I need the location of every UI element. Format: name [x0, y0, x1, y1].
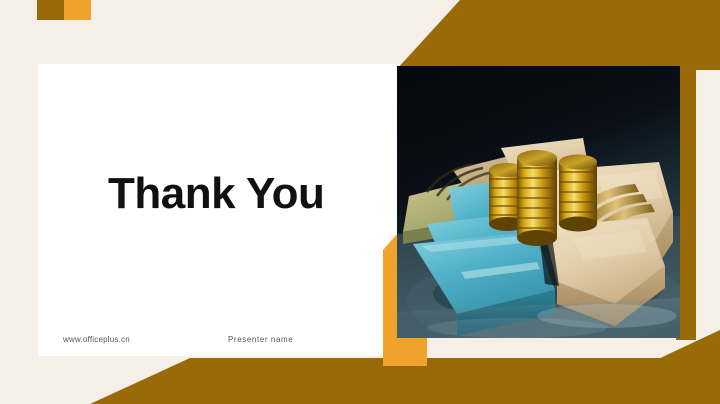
top-right-diagonal-wedge	[396, 0, 720, 70]
content-card: Thank You www.officeplus.cn Presenter na…	[38, 64, 397, 356]
pie-chart-coins-photo	[397, 66, 680, 338]
olive-square	[37, 0, 64, 20]
slide-canvas: Thank You www.officeplus.cn Presenter na…	[0, 0, 720, 404]
footer-website[interactable]: www.officeplus.cn	[63, 335, 130, 344]
footer-presenter-name: Presenter name	[228, 335, 293, 344]
orange-square	[64, 0, 91, 20]
page-title: Thank You	[108, 169, 324, 219]
corner-squares	[37, 0, 91, 20]
